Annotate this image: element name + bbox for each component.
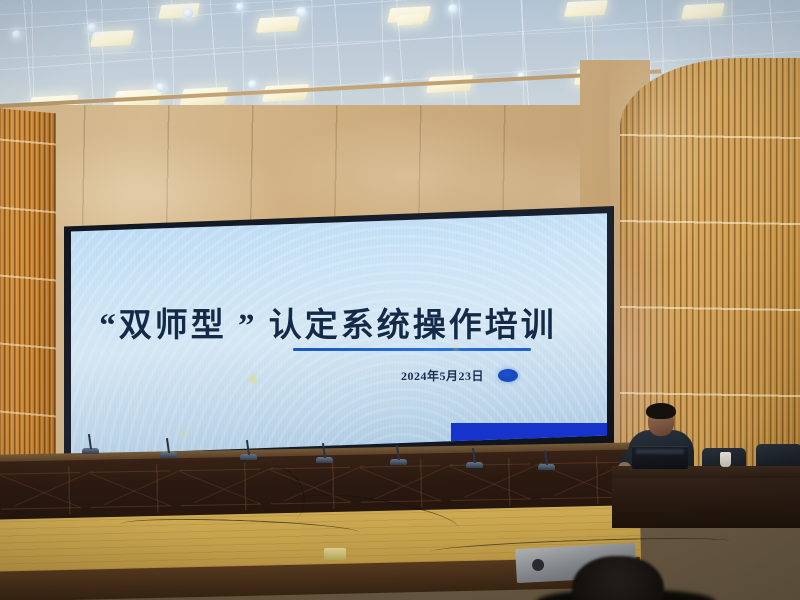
podium-panel-detail: [450, 463, 531, 501]
screen-artifact-3: [181, 430, 188, 438]
speaker-driver-icon: [532, 559, 545, 572]
slide-title: “双师型 ” 认定系统操作培训: [71, 298, 585, 346]
ceiling-downlight: [156, 83, 165, 92]
ceiling-downlight: [12, 30, 21, 39]
slide-date-text: 2024年5月23日: [401, 367, 484, 384]
ceiling-panel-light: [564, 0, 608, 17]
screen-artifact-2: [453, 344, 459, 353]
conference-hall-photo: “双师型 ” 认定系统操作培训 2024年5月23日: [0, 0, 800, 600]
ceiling-downlight: [296, 7, 307, 18]
laptop-screen-glow: [636, 449, 684, 454]
podium-panel-detail: [360, 465, 441, 503]
floor-object-yellow: [324, 548, 346, 560]
presenter-hair: [646, 403, 676, 419]
led-screen-display: “双师型 ” 认定系统操作培训 2024年5月23日: [71, 212, 607, 455]
ceiling-downlight: [183, 8, 193, 18]
screen-artifact-1: [249, 375, 257, 384]
paper-cup: [720, 452, 731, 467]
ceiling-downlight: [236, 3, 244, 11]
slide-bullet-dot-icon: [498, 369, 518, 382]
podium-panel-detail: [90, 470, 171, 508]
ceiling-downlight: [448, 4, 458, 14]
ceiling-panel-light: [90, 30, 134, 47]
slide-title-underline: [293, 348, 531, 351]
ceiling-panel-light: [256, 16, 300, 33]
podium-panel-detail: [0, 472, 81, 510]
left-slat-wall: [0, 108, 56, 483]
ceiling-panel-light: [681, 3, 725, 19]
presenter-desk-front: [612, 478, 800, 528]
ceiling-downlight: [248, 80, 257, 89]
ceiling-panel-light: [397, 14, 426, 25]
podium-panel-detail: [180, 469, 261, 507]
slide-date-row: 2024年5月23日: [401, 367, 518, 384]
ceiling-downlight: [87, 23, 97, 33]
ceiling-panel-light: [158, 3, 200, 19]
